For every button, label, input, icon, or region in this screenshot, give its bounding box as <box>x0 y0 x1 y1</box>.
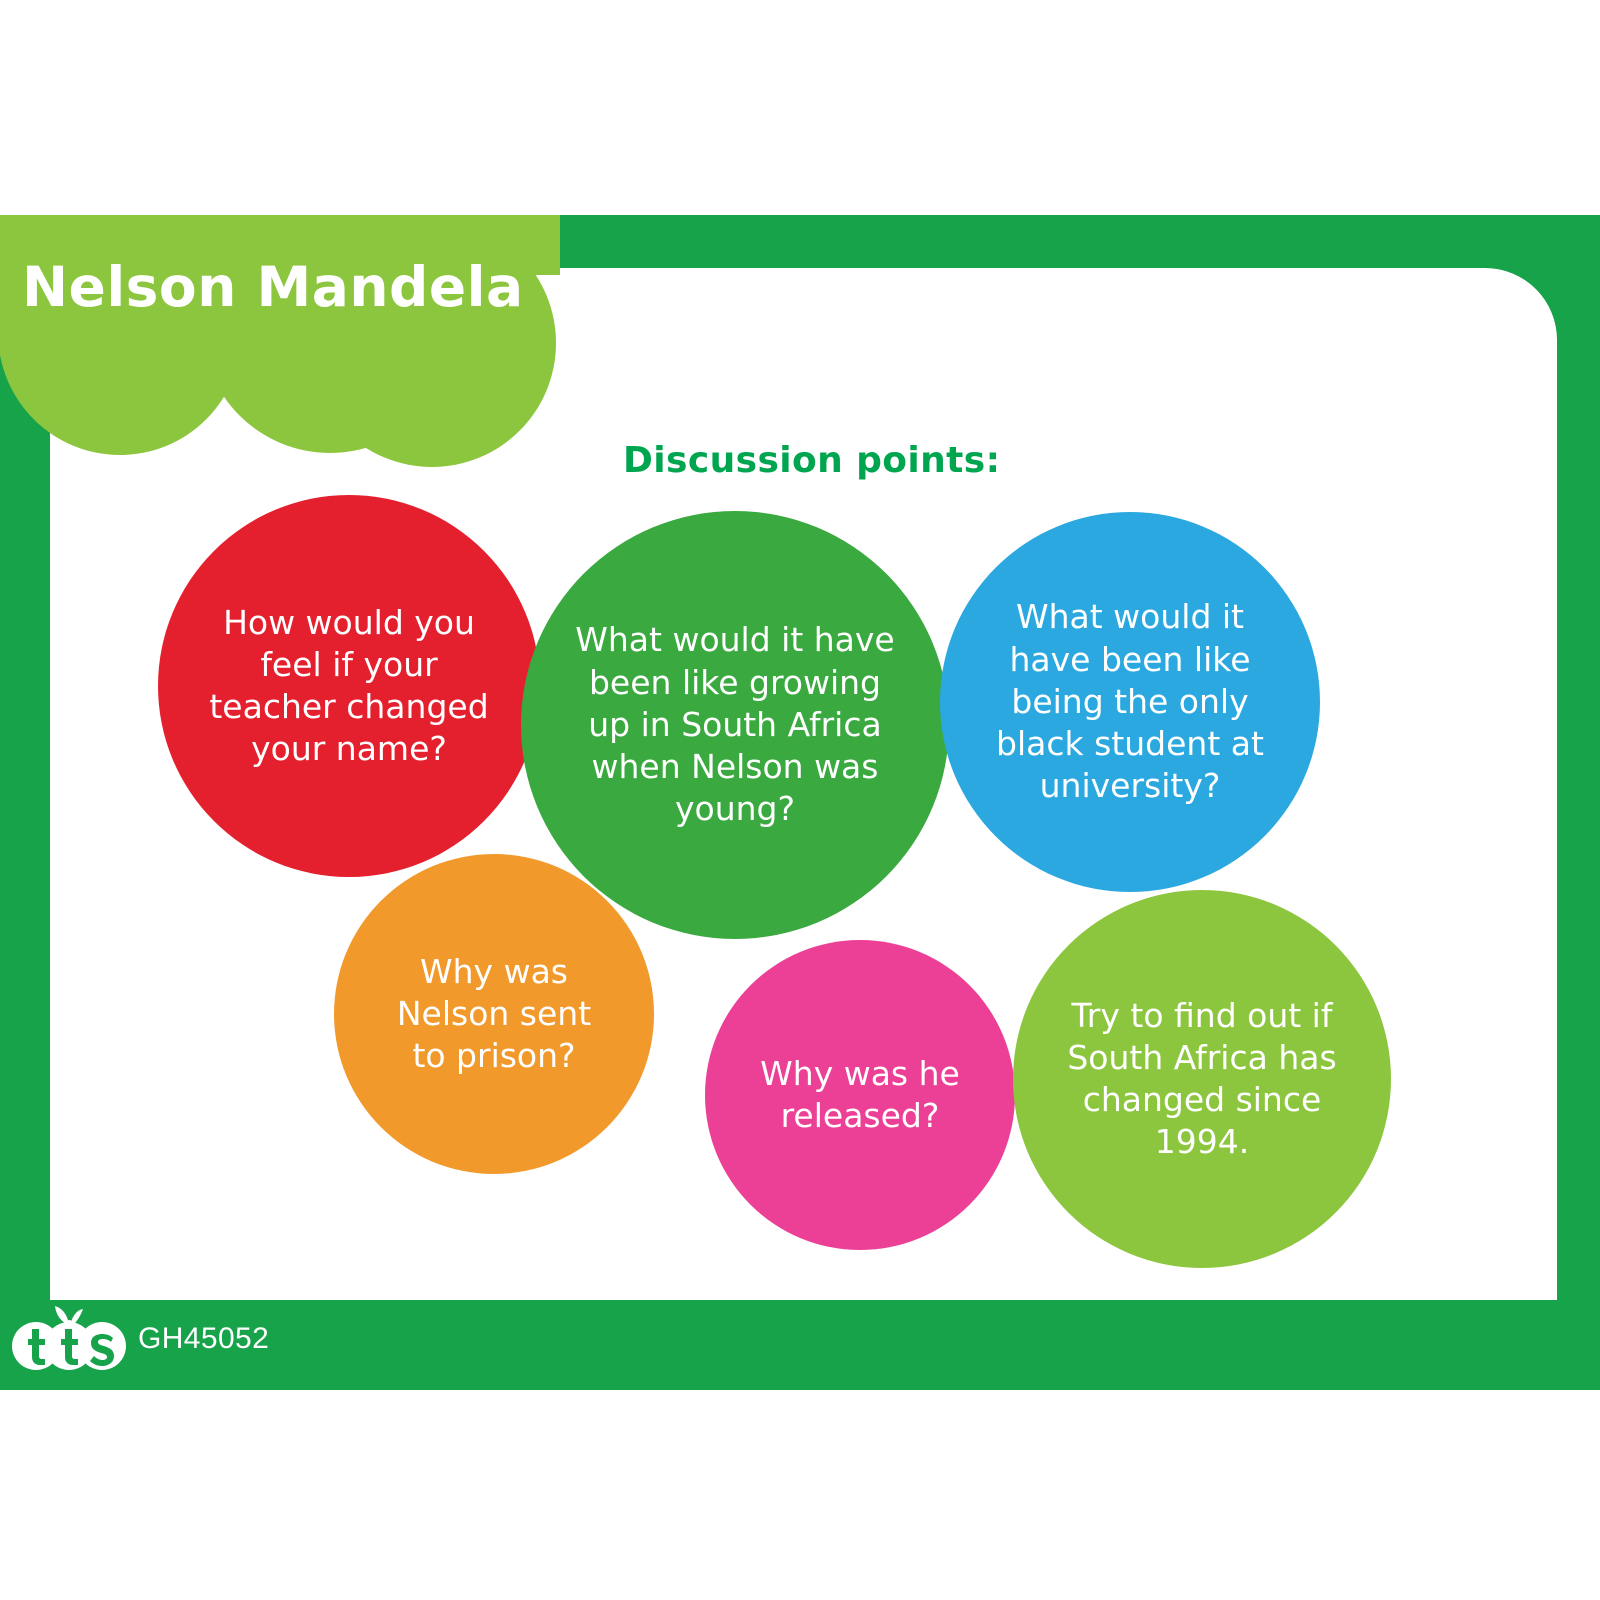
bubble-label: What would it have been like growing up … <box>569 619 901 830</box>
product-code: GH45052 <box>138 1322 269 1356</box>
bubble-label: Try to find out if South Africa has chan… <box>1046 995 1358 1164</box>
bubble-find-out-1994[interactable]: Try to find out if South Africa has chan… <box>1013 890 1391 1268</box>
page-title: Nelson Mandela <box>22 255 542 319</box>
bubble-label: Why was he released? <box>742 1053 979 1137</box>
bubble-why-released[interactable]: Why was he released? <box>705 940 1015 1250</box>
poster-page: Nelson Mandela Discussion points: How wo… <box>0 0 1600 1600</box>
tts-apple-logo-icon <box>10 1300 128 1372</box>
bubble-label: Why was Nelson sent to prison? <box>373 951 615 1078</box>
bubble-why-sent-to-prison[interactable]: Why was Nelson sent to prison? <box>334 854 654 1174</box>
bubble-teacher-changed-name[interactable]: How would you feel if your teacher chang… <box>158 495 540 877</box>
bubble-growing-up-south-africa[interactable]: What would it have been like growing up … <box>521 511 949 939</box>
bubble-label: How would you feel if your teacher chang… <box>193 602 505 771</box>
discussion-points-heading: Discussion points: <box>623 440 1000 481</box>
bubble-label: What would it have been like being the o… <box>969 596 1291 807</box>
bubble-only-black-student[interactable]: What would it have been like being the o… <box>940 512 1320 892</box>
